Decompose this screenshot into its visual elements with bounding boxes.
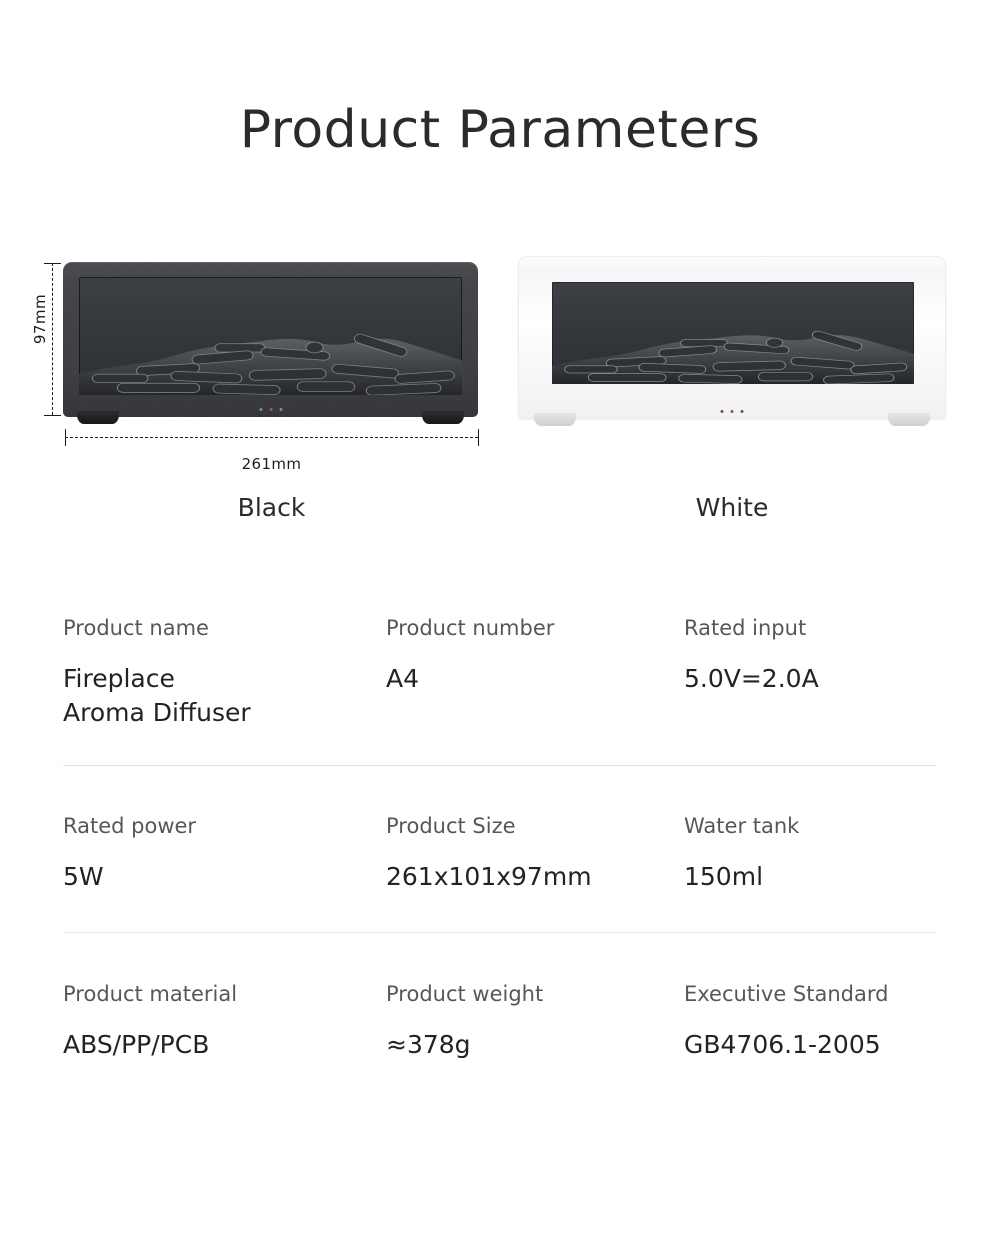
spec-cell-executive-standard: Executive Standard GB4706.1-2005 bbox=[684, 981, 937, 1062]
log-pile-icon bbox=[79, 327, 462, 395]
dimension-label-width: 261mm bbox=[65, 455, 478, 473]
control-dot-2[interactable] bbox=[731, 410, 734, 413]
spec-value: ABS/PP/PCB bbox=[63, 1028, 386, 1062]
control-dot-1[interactable] bbox=[259, 408, 262, 411]
spec-value: 5.0V=2.0A bbox=[684, 662, 937, 696]
spec-label: Rated input bbox=[684, 615, 937, 641]
dimension-cap-height-top bbox=[44, 263, 61, 264]
control-dot-2[interactable] bbox=[269, 408, 272, 411]
product-foot-right bbox=[888, 413, 930, 426]
product-caption-white: White bbox=[518, 493, 946, 522]
product-screen-white bbox=[552, 282, 914, 384]
spec-cell-product-material: Product material ABS/PP/PCB bbox=[63, 981, 386, 1062]
product-foot-right bbox=[422, 411, 464, 424]
dimension-cap-height-bottom bbox=[44, 415, 61, 416]
spec-value: GB4706.1-2005 bbox=[684, 1028, 937, 1062]
control-buttons-white[interactable] bbox=[721, 410, 744, 413]
spec-value: 5W bbox=[63, 860, 386, 894]
log-pile-icon bbox=[552, 325, 914, 384]
spec-cell-rated-input: Rated input 5.0V=2.0A bbox=[684, 615, 937, 730]
spec-cell-product-size: Product Size 261x101x97mm bbox=[386, 813, 684, 894]
product-foot-left bbox=[534, 413, 576, 426]
spec-row: Product name Fireplace Aroma Diffuser Pr… bbox=[63, 615, 937, 730]
product-image-black bbox=[63, 262, 478, 417]
spec-value: 150ml bbox=[684, 860, 937, 894]
spec-cell-product-weight: Product weight ≈378g bbox=[386, 981, 684, 1062]
spec-label: Product name bbox=[63, 615, 386, 641]
dimension-cap-width-right bbox=[478, 429, 479, 446]
spec-label: Executive Standard bbox=[684, 981, 937, 1007]
spec-value: ≈378g bbox=[386, 1028, 684, 1062]
spec-cell-product-number: Product number A4 bbox=[386, 615, 684, 730]
spec-label: Product material bbox=[63, 981, 386, 1007]
product-foot-left bbox=[77, 411, 119, 424]
spec-row: Product material ABS/PP/PCB Product weig… bbox=[63, 981, 937, 1062]
spec-cell-product-name: Product name Fireplace Aroma Diffuser bbox=[63, 615, 386, 730]
control-buttons-black[interactable] bbox=[259, 408, 282, 411]
product-caption-black: Black bbox=[65, 493, 478, 522]
spec-value: 261x101x97mm bbox=[386, 860, 684, 894]
spec-table: Product name Fireplace Aroma Diffuser Pr… bbox=[63, 615, 937, 1062]
control-dot-1[interactable] bbox=[721, 410, 724, 413]
spec-cell-rated-power: Rated power 5W bbox=[63, 813, 386, 894]
dimension-cap-width-left bbox=[65, 429, 66, 446]
spec-label: Product Size bbox=[386, 813, 684, 839]
dimension-label-height: 97mm bbox=[31, 289, 49, 349]
spec-label: Water tank bbox=[684, 813, 937, 839]
product-screen-black bbox=[79, 277, 462, 395]
control-dot-3[interactable] bbox=[741, 410, 744, 413]
dimension-line-width bbox=[65, 437, 478, 438]
spec-cell-water-tank: Water tank 150ml bbox=[684, 813, 937, 894]
spec-label: Product weight bbox=[386, 981, 684, 1007]
spec-value: A4 bbox=[386, 662, 684, 696]
spec-value: Fireplace Aroma Diffuser bbox=[63, 662, 386, 730]
product-image-white bbox=[518, 256, 946, 419]
product-image-group: 97mm 261mm Black White bbox=[0, 0, 1000, 560]
spec-label: Rated power bbox=[63, 813, 386, 839]
spec-row: Rated power 5W Product Size 261x101x97mm… bbox=[63, 813, 937, 894]
row-divider bbox=[63, 765, 937, 766]
dimension-line-height bbox=[52, 263, 53, 415]
control-dot-3[interactable] bbox=[279, 408, 282, 411]
row-divider bbox=[63, 932, 937, 933]
spec-label: Product number bbox=[386, 615, 684, 641]
